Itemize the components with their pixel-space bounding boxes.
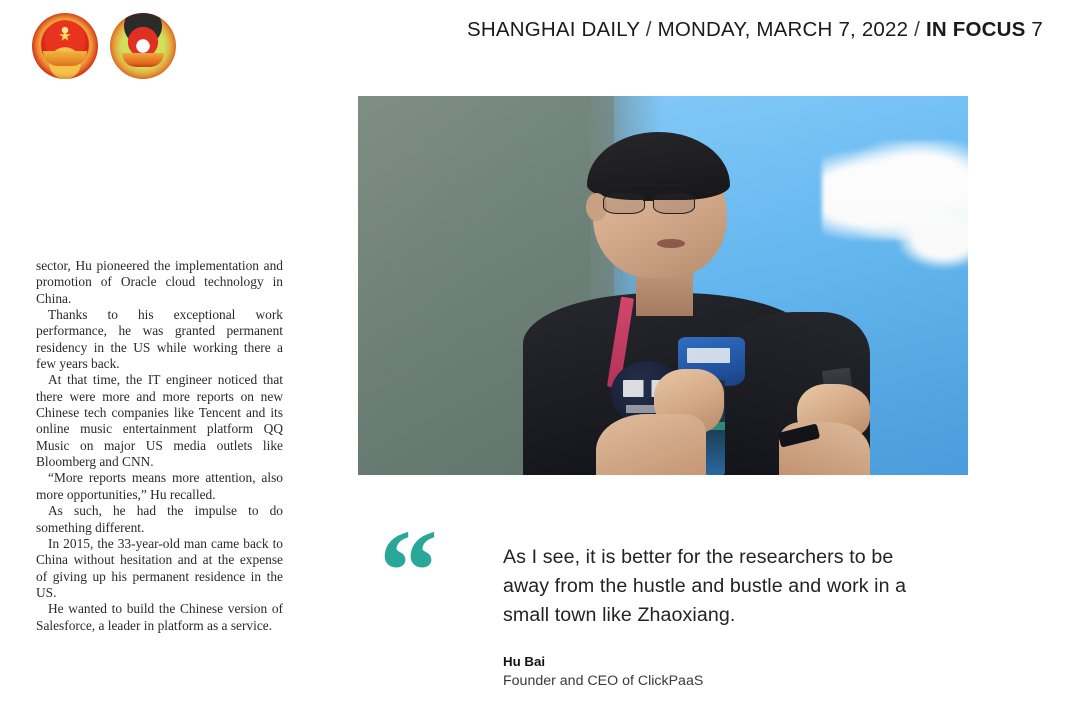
- article-paragraph: As such, he had the impulse to do someth…: [36, 503, 283, 536]
- article-photo: [358, 96, 968, 475]
- article-paragraph: In 2015, the 33-year-old man came back t…: [36, 536, 283, 601]
- pull-quote-role: Founder and CEO of ClickPaaS: [503, 673, 923, 689]
- article-paragraph: Thanks to his exceptional work performan…: [36, 307, 283, 372]
- quotation-mark-icon: “: [379, 512, 436, 630]
- header-separator-2: /: [908, 18, 926, 41]
- masthead-header-line: SHANGHAI DAILY / MONDAY, MARCH 7, 2022 /…: [467, 18, 1043, 42]
- article-body-column: sector, Hu pioneered the implementation …: [36, 258, 283, 634]
- publication-name: SHANGHAI DAILY: [467, 18, 640, 41]
- photo-tone-overlay: [358, 96, 968, 475]
- masthead: SHANGHAI DAILY / MONDAY, MARCH 7, 2022 /…: [0, 0, 1079, 92]
- pull-quote-author: Hu Bai: [503, 654, 923, 669]
- article-paragraph: sector, Hu pioneered the implementation …: [36, 258, 283, 307]
- cppcc-emblem-icon: [110, 13, 176, 79]
- article-paragraph: At that time, the IT engineer noticed th…: [36, 372, 283, 470]
- article-paragraph: “More reports means more attention, also…: [36, 470, 283, 503]
- page-number: 7: [1031, 18, 1043, 41]
- section-name: IN FOCUS: [926, 18, 1026, 41]
- header-separator-1: /: [640, 18, 658, 41]
- pull-quote-text: As I see, it is better for the researche…: [503, 543, 923, 630]
- national-emblem-icon: [32, 13, 98, 79]
- pull-quote-block: As I see, it is better for the researche…: [503, 543, 923, 689]
- article-paragraph: He wanted to build the Chinese version o…: [36, 601, 283, 634]
- issue-date: MONDAY, MARCH 7, 2022: [658, 18, 909, 41]
